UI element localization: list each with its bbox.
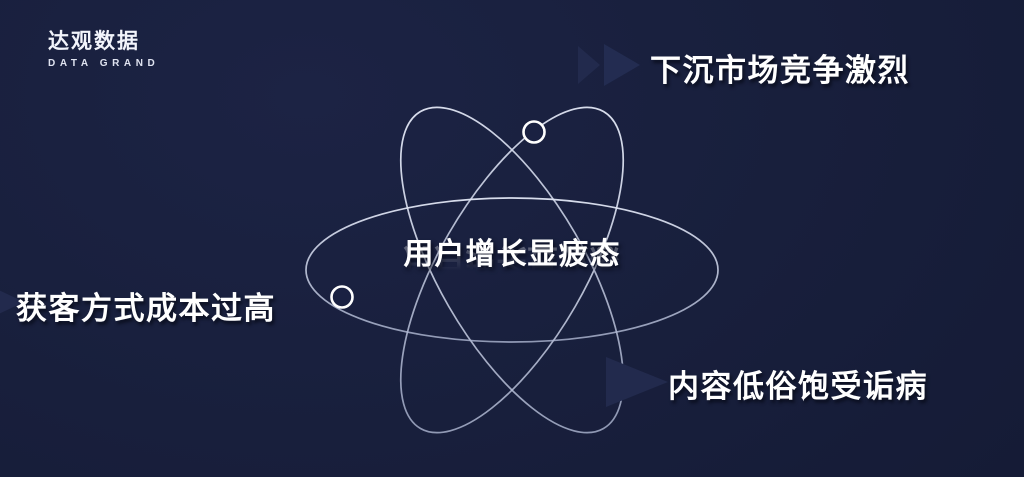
label-left: 获客方式成本过高 — [16, 283, 276, 328]
brand-logo: 达观数据 DATA GRAND — [48, 30, 159, 69]
brand-logo-subtitle: DATA GRAND — [48, 58, 159, 69]
triangle-right-icon-bottom — [606, 357, 668, 407]
slide-canvas: 达观数据 DATA GRAND — [0, 0, 1024, 477]
node-top — [524, 122, 545, 143]
brand-logo-name: 达观数据 — [48, 30, 159, 54]
node-bottom-right — [623, 372, 644, 393]
double-triangle-right-icon — [578, 44, 640, 86]
label-bottom-right: 内容低俗饱受诟病 — [668, 361, 928, 406]
center-headline-reflection: 用户增长显疲态 — [0, 243, 1024, 273]
label-top-right: 下沉市场竞争激烈 — [650, 45, 910, 90]
